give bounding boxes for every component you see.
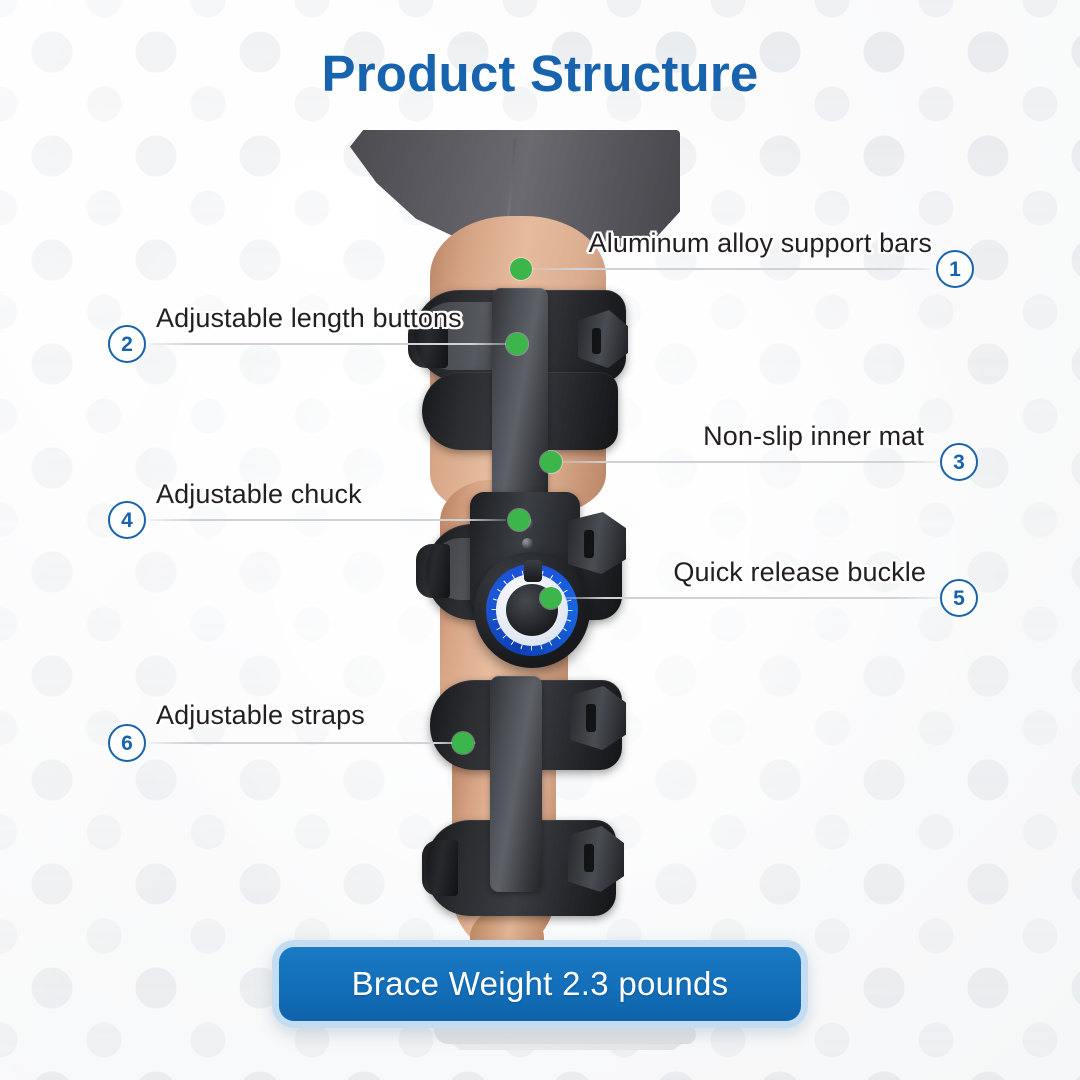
buckle-slot xyxy=(592,328,601,354)
leader-line xyxy=(150,742,476,744)
page-title: Product Structure xyxy=(0,44,1080,103)
aluminum-support-bar-upper xyxy=(492,288,548,510)
marker-dot xyxy=(540,451,562,473)
marker-dot xyxy=(508,509,530,531)
length-adjust-button xyxy=(522,538,533,549)
callout-number: 3 xyxy=(940,443,978,481)
marker-dot xyxy=(506,333,528,355)
rom-dial-knob xyxy=(524,560,542,582)
marker-dot xyxy=(452,732,474,754)
callout-label: Aluminum alloy support bars xyxy=(589,228,932,259)
callout-label: Adjustable length buttons xyxy=(156,303,462,334)
brace-weight-text: Brace Weight 2.3 pounds xyxy=(352,965,729,1003)
callout-number: 1 xyxy=(936,250,974,288)
leader-line xyxy=(560,461,938,463)
callout-label: Non-slip inner mat xyxy=(703,421,924,452)
callout-number: 2 xyxy=(108,325,146,363)
callout-label: Adjustable chuck xyxy=(156,479,362,510)
callout-label: Adjustable straps xyxy=(156,700,365,731)
leader-line xyxy=(560,597,940,599)
callout-label: Quick release buckle xyxy=(673,557,926,588)
callout-number: 6 xyxy=(108,724,146,762)
buckle-slot xyxy=(586,704,596,732)
leader-line xyxy=(150,519,506,521)
adjustable-strap xyxy=(422,840,458,896)
marker-dot xyxy=(540,587,562,609)
leader-line xyxy=(526,268,930,270)
aluminum-support-bar-lower xyxy=(490,676,542,892)
buckle-slot xyxy=(584,530,594,558)
marker-dot xyxy=(510,258,532,280)
callout-number: 4 xyxy=(108,501,146,539)
adjustable-strap xyxy=(416,544,450,598)
leader-line xyxy=(150,343,516,345)
brace-weight-banner: Brace Weight 2.3 pounds xyxy=(272,940,808,1028)
buckle-slot xyxy=(584,844,594,872)
callout-number: 5 xyxy=(940,579,978,617)
poster-canvas: Product Structure xyxy=(0,0,1080,1080)
